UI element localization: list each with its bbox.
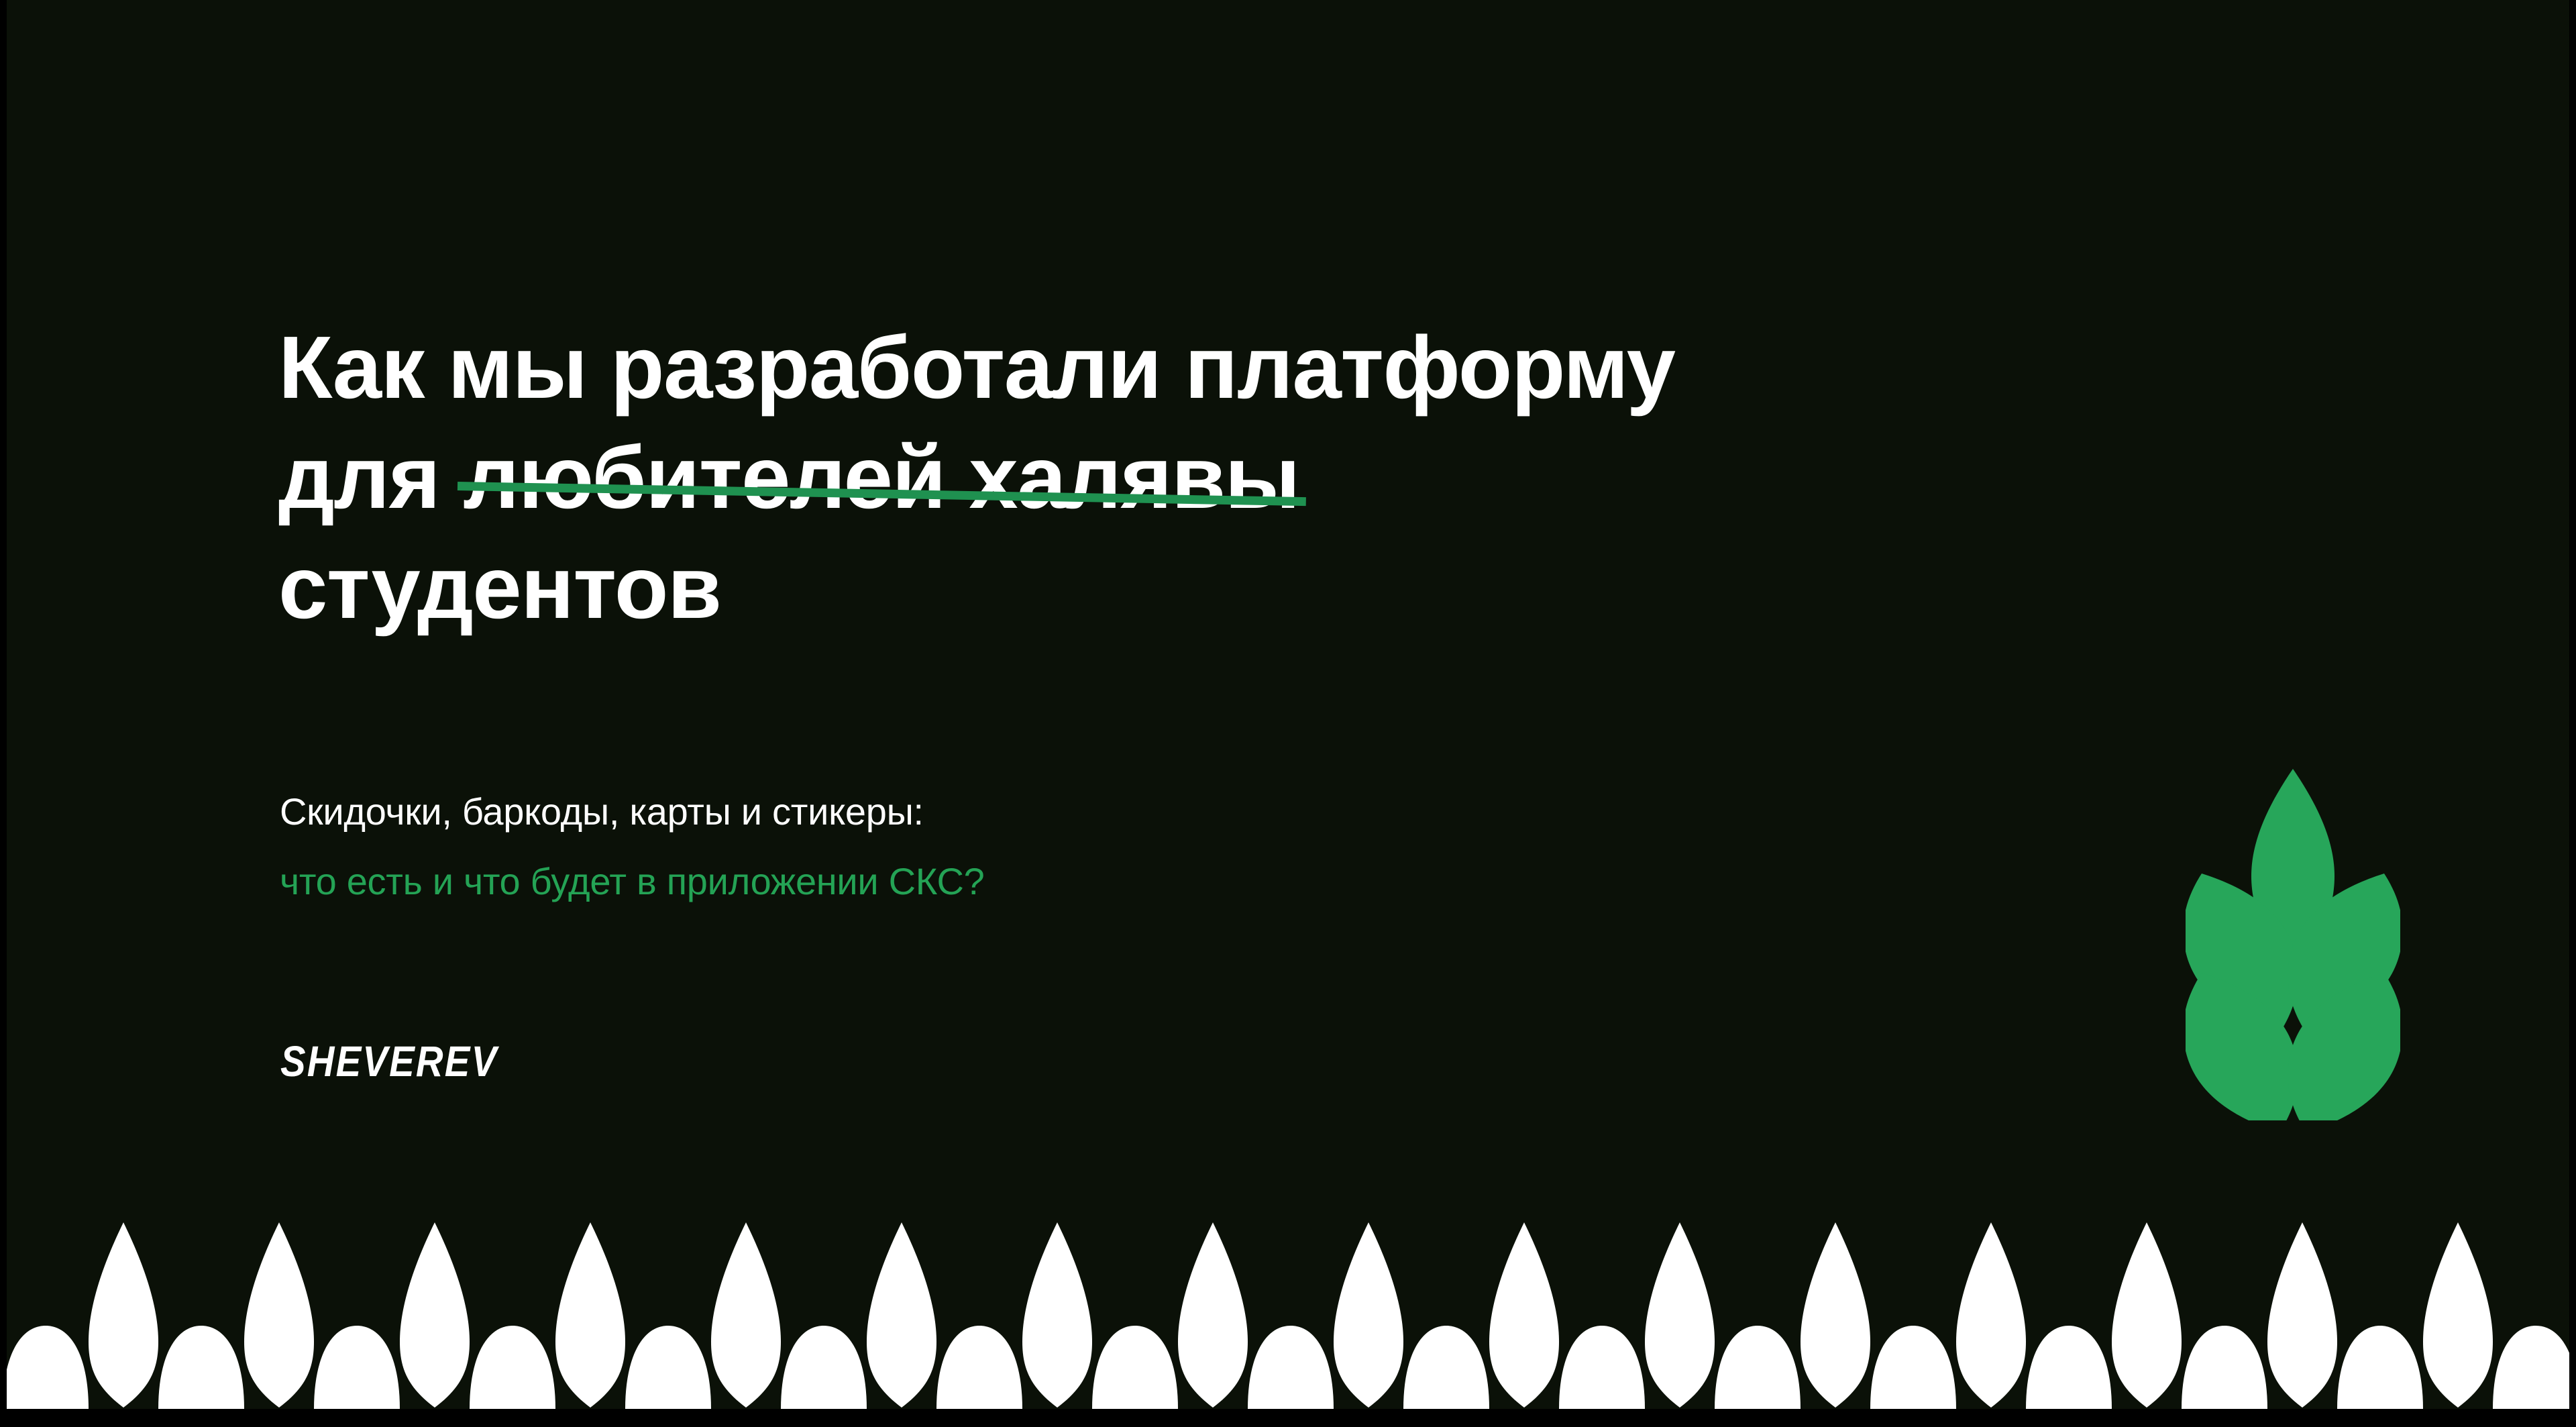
title-line-2: для любителей халявы xyxy=(278,423,2090,533)
petal-border-pattern xyxy=(7,1208,2569,1409)
title-struck-phrase-wrap: любителей халявы xyxy=(463,423,1299,533)
title-line-1-text: Как мы разработали платформу xyxy=(278,318,1675,417)
left-edge-bar xyxy=(0,0,7,1427)
brand-logo: SHEVEREV xyxy=(280,1037,498,1086)
title-line-3: студентов xyxy=(278,533,2090,643)
title-line-1: Как мы разработали платформу xyxy=(278,313,2090,423)
bottom-edge-bar xyxy=(0,1409,2576,1427)
title-line-2-prefix: для xyxy=(278,428,463,527)
title-struck-phrase: любителей халявы xyxy=(463,428,1299,527)
subtitle-line-1: Скидочки, баркоды, карты и стикеры: xyxy=(280,777,984,847)
title-line-3-text: студентов xyxy=(278,538,721,637)
slide-title: Как мы разработали платформу для любител… xyxy=(278,313,2090,643)
subtitle-line-2: что есть и что будет в приложении СКС? xyxy=(280,847,984,916)
presentation-slide: Как мы разработали платформу для любител… xyxy=(7,0,2569,1409)
slide-subtitle: Скидочки, баркоды, карты и стикеры: что … xyxy=(280,777,984,916)
wheat-icon xyxy=(2186,765,2400,1120)
